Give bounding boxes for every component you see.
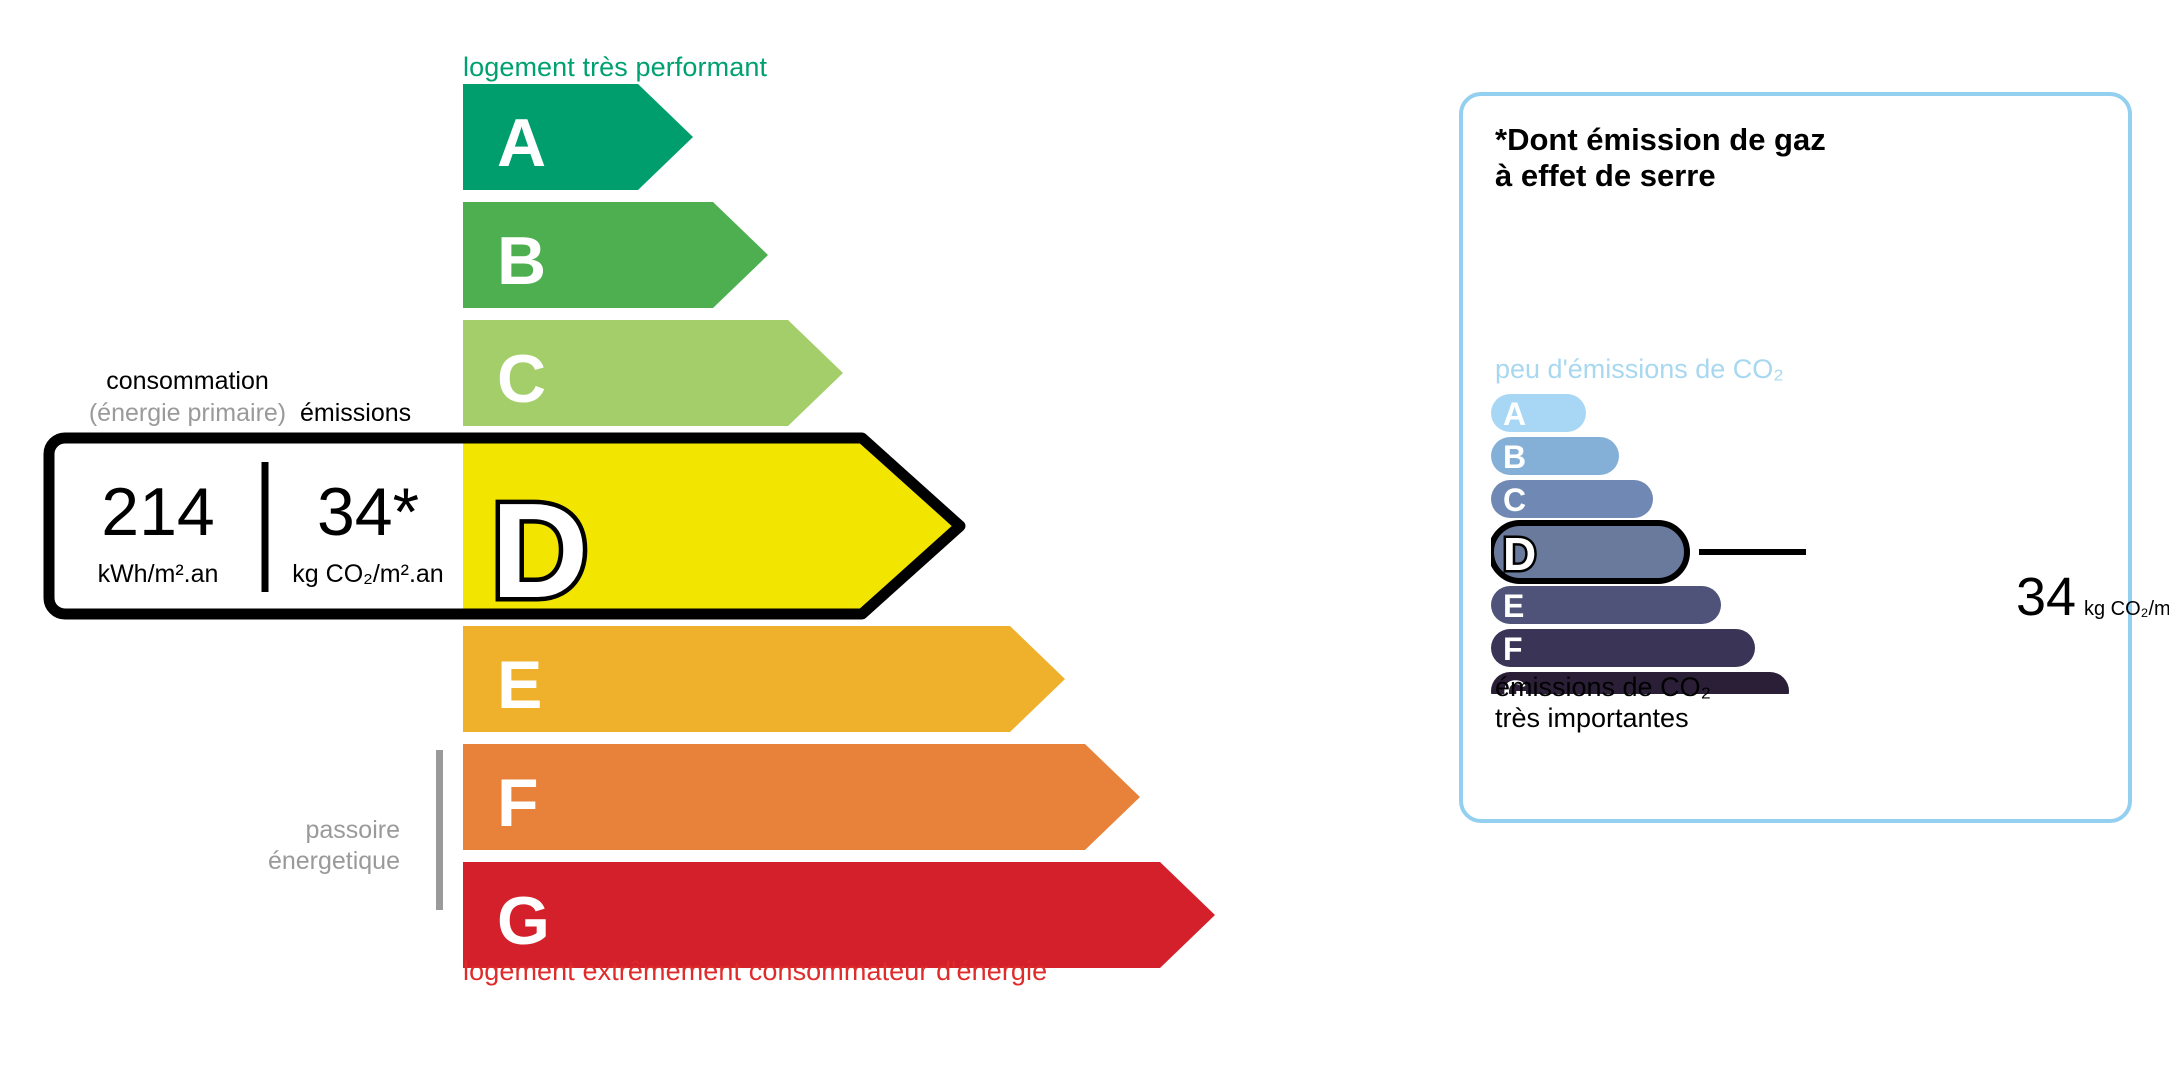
energy-bar-g — [463, 862, 1215, 968]
co2-bar-c-letter: C — [1503, 482, 1526, 518]
energy-row-g: G — [463, 862, 1215, 968]
co2-title-line-2: à effet de serre — [1495, 158, 1716, 193]
co2-value-unit: kg CO₂/m².an — [2084, 599, 2169, 619]
energy-bar-d-letter: D — [491, 475, 589, 626]
emission-value: 34* — [278, 478, 458, 546]
co2-bar-f-letter: F — [1503, 631, 1523, 667]
consumption-value: 214 — [58, 478, 258, 546]
energy-bar-a-letter: A — [497, 105, 546, 181]
co2-title-line-1: *Dont émission de gaz — [1495, 122, 1826, 157]
co2-bottom-line-1: émissions de CO₂ — [1495, 672, 1711, 702]
energy-row-b: B — [463, 202, 768, 308]
co2-top-label: peu d'émissions de CO₂ — [1495, 354, 1784, 385]
co2-bar-b-letter: B — [1503, 439, 1526, 475]
co2-emissions-panel: *Dont émission de gaz à effet de serre p… — [1459, 92, 2132, 823]
co2-bar-f — [1491, 629, 1755, 667]
co2-row-b: B — [1491, 437, 1619, 475]
co2-bar-a-letter: A — [1503, 396, 1526, 432]
energy-bar-e — [463, 626, 1065, 732]
co2-row-e: E — [1491, 586, 1721, 624]
co2-class-bars: A B C D E F G — [1491, 394, 2111, 694]
co2-row-f: F — [1491, 629, 1755, 667]
co2-bar-e-letter: E — [1503, 588, 1524, 624]
co2-row-d-highlighted: D — [1491, 523, 1806, 581]
energy-row-e: E — [463, 626, 1065, 732]
co2-panel-title: *Dont émission de gaz à effet de serre — [1495, 122, 1826, 194]
co2-value: 34 — [2016, 570, 2076, 624]
consumption-unit: kWh/m².an — [48, 562, 268, 587]
emission-unit: kg CO₂/m².an — [268, 562, 468, 587]
energy-row-f: F — [463, 744, 1140, 850]
co2-row-c: C — [1491, 480, 1653, 518]
co2-row-a: A — [1491, 394, 1586, 432]
energy-bar-e-letter: E — [497, 647, 542, 723]
energy-bar-f-letter: F — [497, 765, 539, 841]
co2-bar-e — [1491, 586, 1721, 624]
co2-bar-d-letter: D — [1503, 528, 1536, 580]
chart-bottom-caption: logement extrêmement consommateur d'éner… — [463, 956, 1047, 987]
energy-row-a: A — [463, 84, 693, 190]
energy-bar-c-letter: C — [497, 341, 546, 417]
energy-bar-f — [463, 744, 1140, 850]
energy-bar-b-letter: B — [497, 223, 546, 299]
co2-bottom-line-2: très importantes — [1495, 703, 1689, 733]
co2-bottom-label: émissions de CO₂ très importantes — [1495, 672, 1711, 734]
energy-row-c: C — [463, 320, 843, 426]
energy-performance-chart: logement très performant consommation (é… — [0, 0, 1320, 1079]
energy-bar-g-letter: G — [497, 883, 550, 959]
